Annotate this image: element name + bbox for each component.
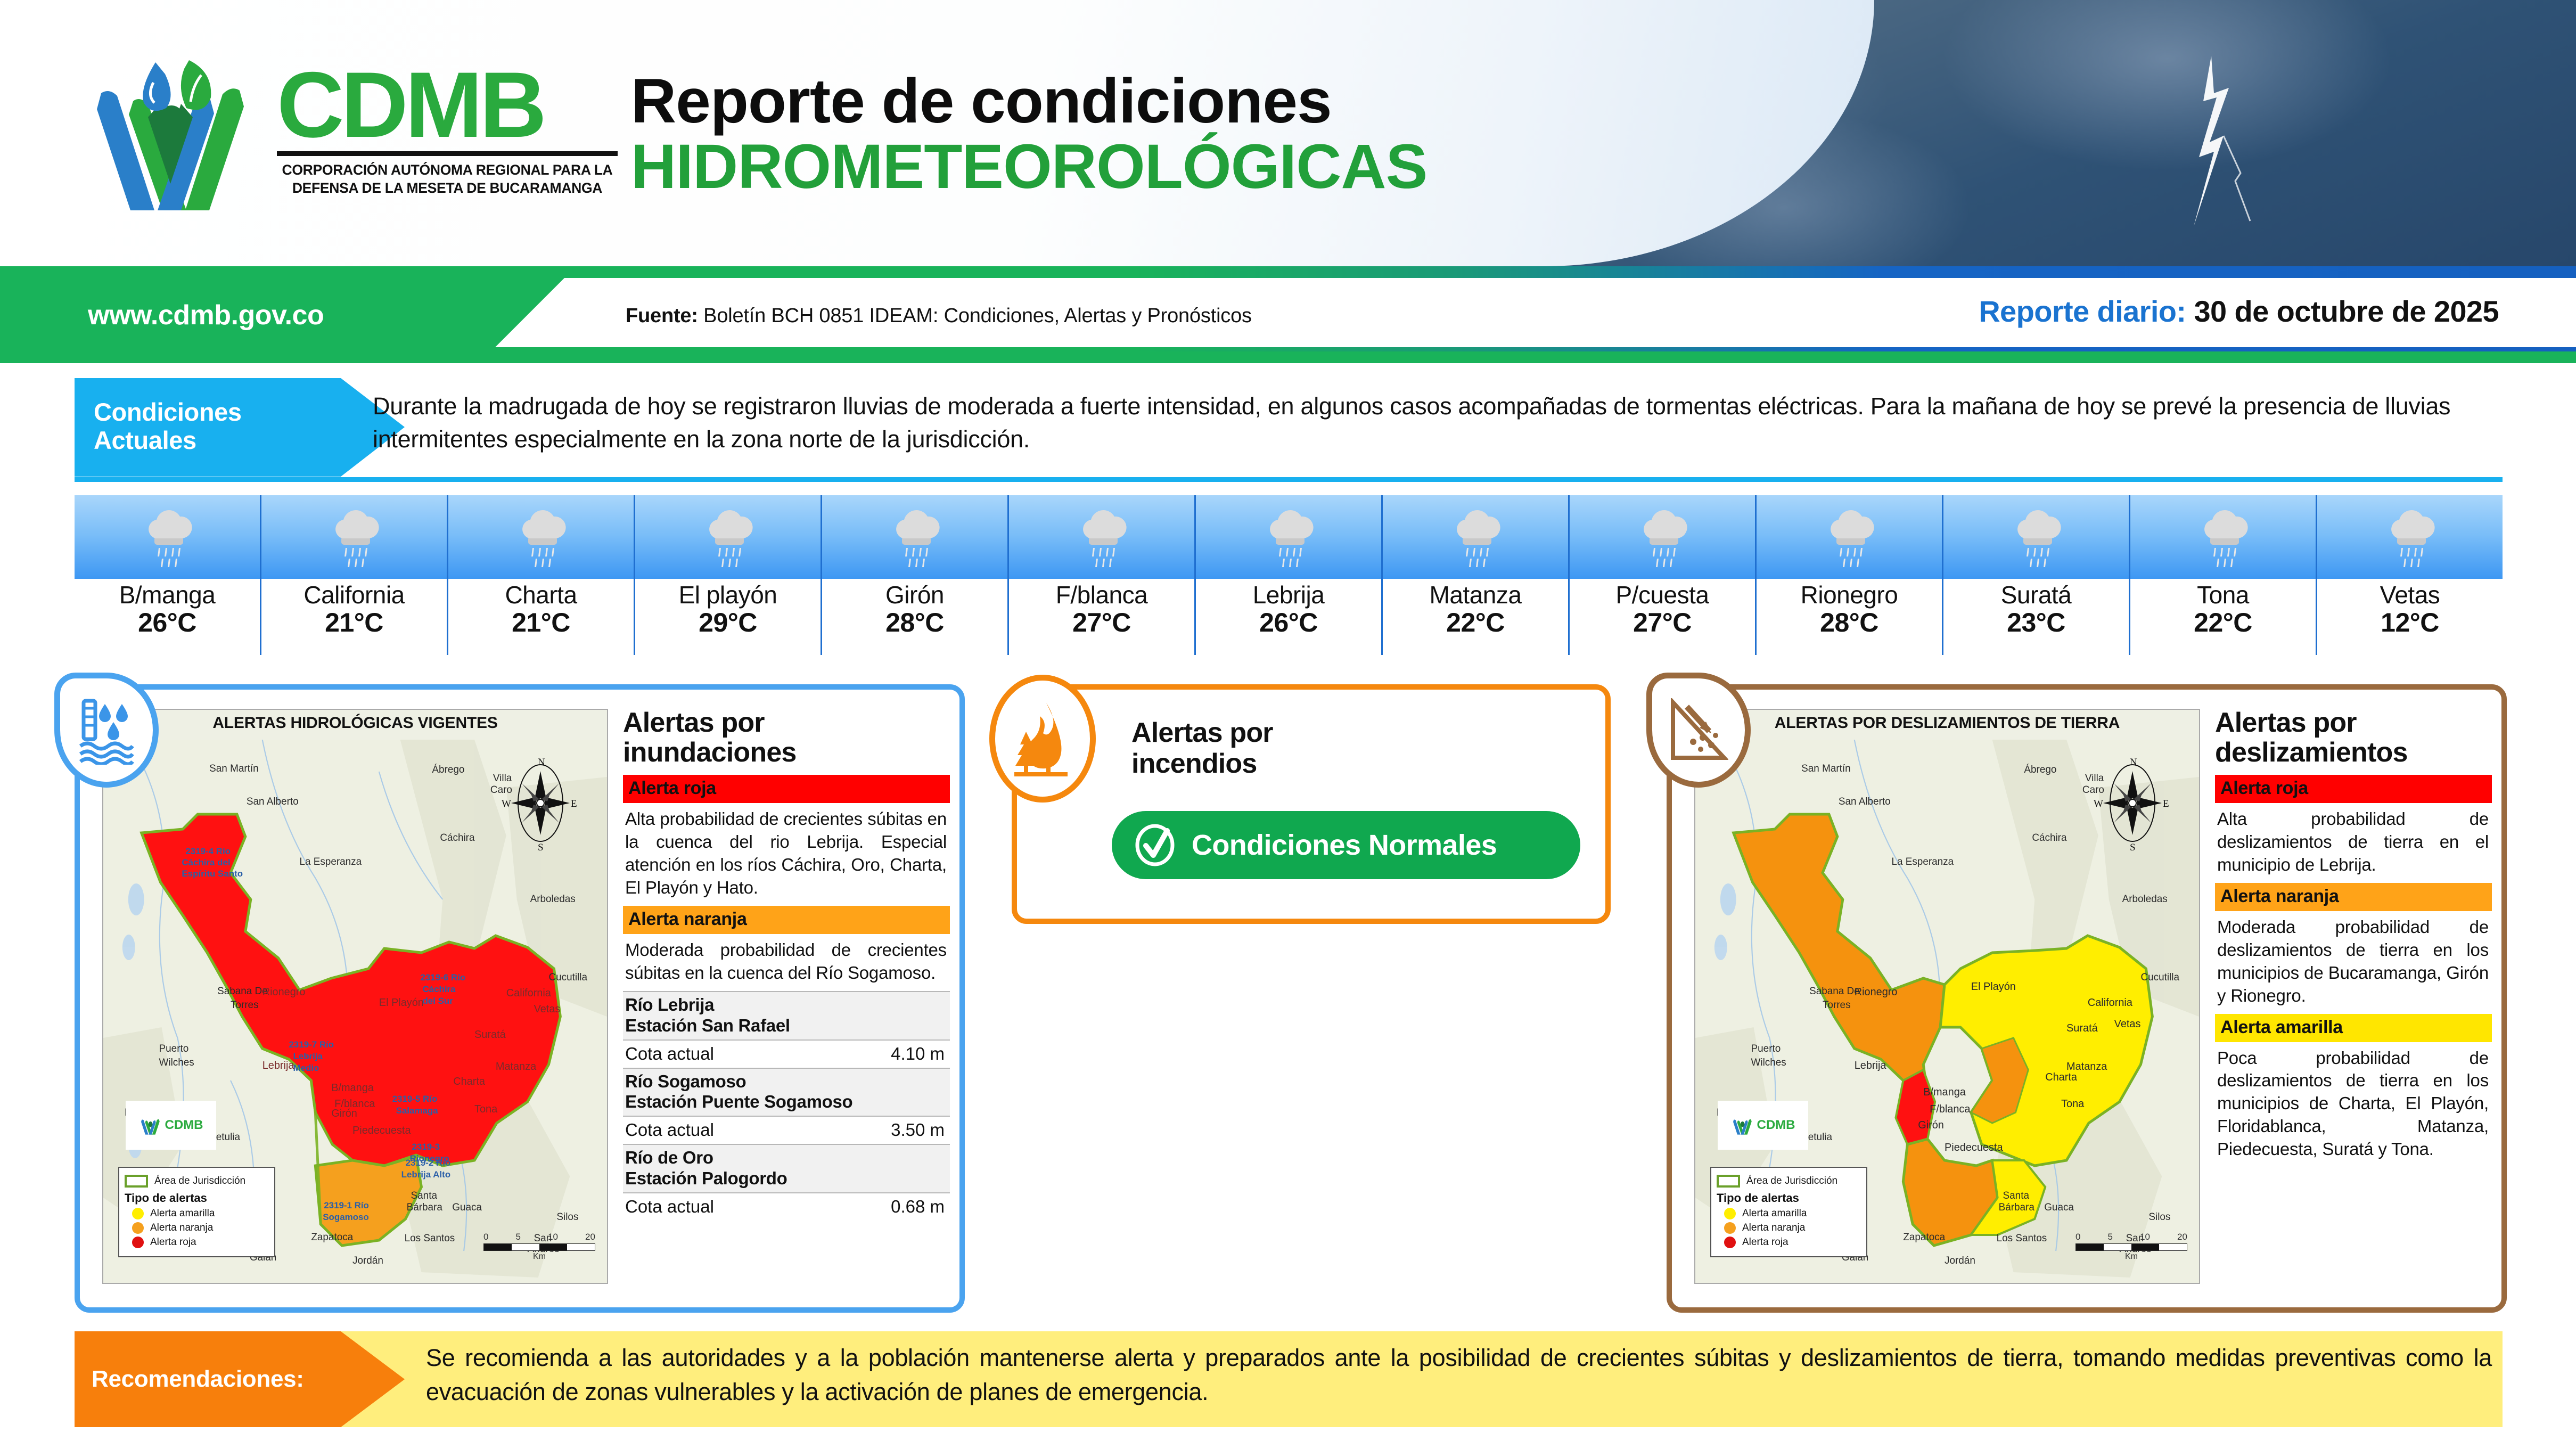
logo-subtitle-line2: DEFENSA DE LA MESETA DE BUCARAMANGA	[277, 179, 618, 198]
svg-text:Suratá: Suratá	[474, 1029, 506, 1041]
temperature-labels: B/manga26°C	[75, 579, 260, 655]
svg-text:Guaca: Guaca	[452, 1202, 482, 1213]
svg-text:Piedecuesta: Piedecuesta	[1945, 1142, 2003, 1153]
svg-text:W: W	[2094, 798, 2103, 809]
station-metric-value: 0.68 m	[891, 1197, 945, 1217]
svg-text:Bárbara: Bárbara	[1999, 1202, 2035, 1213]
alert-level-header: Alerta roja	[2215, 775, 2492, 803]
temperature-station-name: B/manga	[75, 582, 260, 608]
legend-color-dot	[1724, 1208, 1736, 1219]
temperature-station-name: Girón	[822, 582, 1007, 608]
flood-station-list: Río LebrijaEstación San RafaelCota actua…	[623, 991, 950, 1221]
station-measure-row: Cota actual3.50 m	[623, 1116, 950, 1144]
temperature-value: 26°C	[75, 608, 260, 637]
legend-item-label: Alerta naranja	[150, 1222, 213, 1234]
scale-tick: 0	[483, 1232, 488, 1242]
station-metric-label: Cota actual	[625, 1120, 714, 1140]
legend-item-label: Alerta roja	[150, 1237, 196, 1248]
river-name: Río Sogamoso	[625, 1071, 947, 1092]
website-url[interactable]: www.cdmb.gov.co	[88, 299, 324, 331]
svg-text:Medio: Medio	[293, 1063, 319, 1073]
svg-text:B/manga: B/manga	[331, 1082, 374, 1094]
svg-text:Salamaga: Salamaga	[396, 1106, 439, 1116]
temperature-station-name: P/cuesta	[1570, 582, 1755, 608]
river-station-name: Río SogamosoEstación Puente Sogamoso	[623, 1069, 950, 1116]
svg-text:Lebrija: Lebrija	[1855, 1060, 1887, 1071]
temperature-value: 22°C	[1383, 608, 1568, 637]
temperature-cell: B/manga26°C	[75, 495, 261, 655]
svg-text:Cáchira del: Cáchira del	[182, 857, 230, 867]
svg-text:Lebrija: Lebrija	[293, 1051, 323, 1061]
river-name: Río Lebrija	[625, 995, 947, 1016]
current-conditions-underline	[75, 477, 2503, 482]
scale-tick: 5	[516, 1232, 521, 1242]
source-label: Fuente:	[626, 305, 698, 327]
river-station-block: Río LebrijaEstación San RafaelCota actua…	[623, 991, 950, 1068]
flood-map-scale: 051020Km	[483, 1232, 595, 1262]
rain-cloud-icon	[2317, 495, 2503, 579]
temperature-station-name: Rionegro	[1757, 582, 1942, 608]
alert-description: Alta probabilidad de deslizamientos de t…	[2215, 803, 2492, 883]
temperature-cell: Charta21°C	[448, 495, 635, 655]
temperature-cell: P/cuesta27°C	[1570, 495, 1757, 655]
fire-alerts-title: Alertas por incendios	[1131, 717, 1273, 779]
legend-color-dot	[132, 1208, 144, 1219]
svg-text:Los Santos: Los Santos	[405, 1233, 455, 1244]
rain-cloud-icon	[1570, 495, 1755, 579]
cdmb-mini-logo-icon	[139, 1112, 162, 1139]
svg-text:Arboledas: Arboledas	[530, 894, 576, 905]
temperature-cell: Suratá23°C	[1943, 495, 2130, 655]
temperature-cell: California21°C	[261, 495, 448, 655]
temperature-cell: Rionegro28°C	[1757, 495, 1943, 655]
fire-alerts-title-line2: incendios	[1131, 748, 1273, 779]
report-date-line: Reporte diario: 30 de octubre de 2025	[1979, 294, 2499, 329]
page-title: Reporte de condiciones HIDROMETEOROLÓGIC…	[631, 69, 1427, 200]
temperature-value: 29°C	[635, 608, 821, 637]
temperature-labels: El playón29°C	[635, 579, 821, 655]
alert-panels-row: ALERTAS HIDROLÓGICAS VIGENTES	[75, 684, 2507, 1313]
landslide-alerts-title-line2: deslizamientos	[2215, 738, 2492, 767]
current-conditions-tag: Condiciones Actuales	[75, 378, 405, 477]
flood-alerts-card: ALERTAS HIDROLÓGICAS VIGENTES	[75, 684, 965, 1313]
compass-rose-icon: N S W E	[501, 752, 580, 854]
svg-text:Jordán: Jordán	[352, 1255, 383, 1266]
temperature-station-name: Matanza	[1383, 582, 1568, 608]
temperature-value: 28°C	[822, 608, 1007, 637]
temperature-labels: Suratá23°C	[1943, 579, 2129, 655]
station-name: Estación Palogordo	[625, 1168, 947, 1189]
landslide-map-title: ALERTAS POR DESLIZAMIENTOS DE TIERRA	[1695, 714, 2199, 732]
svg-text:2319-3: 2319-3	[412, 1142, 440, 1152]
svg-text:F/blanca: F/blanca	[334, 1098, 375, 1110]
svg-text:2319-1 Río: 2319-1 Río	[324, 1200, 369, 1210]
svg-text:Zapatoca: Zapatoca	[311, 1232, 353, 1243]
svg-text:Vetas: Vetas	[534, 1003, 561, 1015]
temperature-strip: B/manga26°CCalifornia21°CCharta21°CEl pl…	[75, 495, 2503, 655]
svg-text:Cáchira: Cáchira	[2032, 832, 2067, 844]
landslide-alert-list: Alerta rojaAlta probabilidad de deslizam…	[2215, 775, 2492, 1167]
legend-item: Alerta amarilla	[1717, 1208, 1861, 1219]
temperature-station-name: F/blanca	[1009, 582, 1194, 608]
svg-text:2319-7 Río: 2319-7 Río	[289, 1039, 334, 1050]
logo-subtitle-line1: CORPORACIÓN AUTÓNOMA REGIONAL PARA LA	[277, 161, 618, 179]
temperature-value: 21°C	[261, 608, 447, 637]
flood-alerts-title-line2: inundaciones	[623, 738, 950, 767]
scale-bar	[483, 1243, 595, 1251]
fire-badge	[989, 675, 1096, 803]
svg-text:Sabana De: Sabana De	[1809, 986, 1860, 997]
temperature-labels: Matanza22°C	[1383, 579, 1568, 655]
source-text: Boletín BCH 0851 IDEAM: Condiciones, Ale…	[703, 305, 1252, 327]
rain-cloud-icon	[1383, 495, 1568, 579]
fire-status-text: Condiciones Normales	[1192, 829, 1497, 862]
temperature-station-name: Vetas	[2317, 582, 2503, 608]
alert-level-header: Alerta roja	[623, 775, 950, 803]
legend-item-label: Alerta amarilla	[1742, 1208, 1807, 1219]
svg-text:Charta: Charta	[453, 1076, 486, 1087]
svg-text:F/blanca: F/blanca	[1930, 1103, 1971, 1115]
svg-text:2319-5 Río: 2319-5 Río	[392, 1094, 438, 1104]
svg-text:Arboledas: Arboledas	[2122, 894, 2168, 905]
rain-cloud-icon	[2130, 495, 2316, 579]
legend-jurisdiction-row: Área de Jurisdicción	[1717, 1175, 1861, 1188]
temperature-cell: Lebrija26°C	[1196, 495, 1383, 655]
flood-map-legend: Área de JurisdicciónTipo de alertasAlert…	[118, 1167, 275, 1257]
svg-text:S: S	[2130, 842, 2136, 853]
svg-text:B/manga: B/manga	[1923, 1086, 1966, 1098]
legend-jurisdiction-row: Área de Jurisdicción	[125, 1175, 269, 1188]
svg-text:Cucutilla: Cucutilla	[548, 972, 587, 983]
recommendations-section: Recomendaciones: Se recomienda a las aut…	[75, 1331, 2503, 1427]
scale-tick: 5	[2108, 1232, 2113, 1242]
svg-text:Rionegro: Rionegro	[410, 1153, 449, 1164]
temperature-station-name: El playón	[635, 582, 821, 608]
svg-text:Wilches: Wilches	[1751, 1057, 1786, 1068]
recommendations-tag: Recomendaciones:	[75, 1331, 405, 1427]
svg-text:Jordán: Jordán	[1945, 1255, 1975, 1266]
svg-text:Torres: Torres	[231, 1000, 259, 1011]
station-measure-row: Cota actual4.10 m	[623, 1039, 950, 1068]
river-station-name: Río de OroEstación Palogordo	[623, 1145, 950, 1192]
svg-text:W: W	[502, 798, 511, 809]
temperature-value: 21°C	[448, 608, 634, 637]
temperature-labels: Vetas12°C	[2317, 579, 2503, 655]
scale-tick: 10	[2140, 1232, 2150, 1242]
legend-item: Alerta roja	[1717, 1237, 1861, 1248]
cdmb-mini-logo-icon	[1731, 1112, 1754, 1139]
scale-tick-labels: 051020	[483, 1232, 595, 1242]
current-conditions-section: Condiciones Actuales Durante la madrugad…	[75, 378, 2503, 477]
svg-text:Silos: Silos	[2148, 1211, 2170, 1223]
temperature-station-name: Lebrija	[1196, 582, 1381, 608]
svg-text:El Playón: El Playón	[379, 997, 424, 1009]
rain-cloud-icon	[635, 495, 821, 579]
svg-text:Ábrego: Ábrego	[2024, 764, 2056, 775]
station-metric-value: 4.10 m	[891, 1044, 945, 1064]
svg-text:San Alberto: San Alberto	[1839, 796, 1891, 807]
svg-text:La Esperanza: La Esperanza	[1891, 856, 1954, 867]
check-circle-icon	[1132, 822, 1178, 868]
rain-cloud-icon	[822, 495, 1007, 579]
fire-status-pill: Condiciones Normales	[1112, 811, 1580, 879]
hydrological-alerts-map[interactable]: ALERTAS HIDROLÓGICAS VIGENTES	[102, 709, 608, 1284]
flood-alerts-title-line1: Alertas por	[623, 708, 950, 738]
temperature-labels: Tona22°C	[2130, 579, 2316, 655]
fire-forest-icon	[1011, 699, 1074, 779]
temperature-labels: Charta21°C	[448, 579, 634, 655]
flood-badge	[54, 673, 159, 788]
svg-text:California: California	[2088, 997, 2133, 1009]
svg-text:El Playón: El Playón	[1971, 981, 2016, 993]
svg-text:Rionegro: Rionegro	[1855, 986, 1898, 998]
flood-alert-list: Alerta rojaAlta probabilidad de crecient…	[623, 775, 950, 990]
jurisdiction-label: Área de Jurisdicción	[154, 1175, 245, 1187]
scale-unit: Km	[483, 1252, 595, 1262]
legend-item: Alerta naranja	[1717, 1222, 1861, 1234]
temperature-cell: Vetas12°C	[2317, 495, 2503, 655]
legend-item-label: Alerta naranja	[1742, 1222, 1805, 1234]
svg-text:Espíritu Santo: Espíritu Santo	[182, 869, 243, 879]
rain-cloud-icon	[261, 495, 447, 579]
temperature-station-name: Suratá	[1943, 582, 2129, 608]
landslide-icon	[1669, 698, 1728, 762]
landslide-map-legend: Área de JurisdicciónTipo de alertasAlert…	[1710, 1167, 1867, 1257]
flood-map-title: ALERTAS HIDROLÓGICAS VIGENTES	[103, 714, 607, 732]
temperature-labels: Rionegro28°C	[1757, 579, 1942, 655]
svg-text:Torres: Torres	[1823, 1000, 1851, 1011]
svg-text:Tona: Tona	[474, 1103, 498, 1115]
svg-text:Bárbara: Bárbara	[407, 1202, 443, 1213]
info-bar-bottom-rule	[0, 351, 2576, 363]
temperature-labels: F/blanca27°C	[1009, 579, 1194, 655]
alert-description: Moderada probabilidad de deslizamientos …	[2215, 911, 2492, 1014]
river-station-name: Río LebrijaEstación San Rafael	[623, 992, 950, 1039]
jurisdiction-swatch	[1717, 1175, 1740, 1188]
landslide-map-scale: 051020Km	[2075, 1232, 2187, 1262]
station-metric-value: 3.50 m	[891, 1120, 945, 1140]
svg-text:Matanza: Matanza	[2066, 1061, 2107, 1073]
legend-color-dot	[132, 1237, 144, 1248]
temperature-value: 22°C	[2130, 608, 2316, 637]
cdmb-logo: CDMB CORPORACIÓN AUTÓNOMA REGIONAL PARA …	[80, 51, 623, 226]
legend-color-dot	[132, 1222, 144, 1234]
temperature-cell: El playón29°C	[635, 495, 822, 655]
legend-types-title: Tipo de alertas	[1717, 1191, 1861, 1205]
svg-text:Zapatoca: Zapatoca	[1903, 1232, 1945, 1243]
flood-alerts-title: Alertas por inundaciones	[623, 708, 950, 767]
svg-text:Girón: Girón	[1918, 1119, 1944, 1131]
svg-text:Sogamoso: Sogamoso	[323, 1212, 368, 1222]
jurisdiction-swatch	[125, 1175, 148, 1188]
temperature-value: 23°C	[1943, 608, 2129, 637]
station-measure-row: Cota actual0.68 m	[623, 1192, 950, 1221]
rain-cloud-icon	[1009, 495, 1194, 579]
svg-text:La Esperanza: La Esperanza	[299, 856, 362, 867]
scale-tick: 10	[548, 1232, 558, 1242]
temperature-cell: Matanza22°C	[1383, 495, 1570, 655]
scale-bar	[2075, 1243, 2187, 1251]
station-metric-label: Cota actual	[625, 1197, 714, 1217]
source-line: Fuente: Boletín BCH 0851 IDEAM: Condicio…	[626, 305, 1252, 328]
svg-text:San Martín: San Martín	[1801, 763, 1851, 774]
rain-cloud-icon	[1943, 495, 2129, 579]
river-station-block: Río SogamosoEstación Puente SogamosoCota…	[623, 1068, 950, 1144]
legend-types-title: Tipo de alertas	[125, 1191, 269, 1205]
svg-text:Wilches: Wilches	[159, 1057, 194, 1068]
temperature-labels: California21°C	[261, 579, 447, 655]
scale-tick: 0	[2075, 1232, 2080, 1242]
svg-text:E: E	[2163, 798, 2169, 809]
temperature-labels: Lebrija26°C	[1196, 579, 1381, 655]
station-name: Estación San Rafael	[625, 1016, 947, 1036]
report-label: Reporte diario:	[1979, 294, 2186, 328]
title-line-2: HIDROMETEOROLÓGICAS	[631, 134, 1427, 200]
svg-text:Cáchira: Cáchira	[440, 832, 475, 844]
landslide-alerts-title-line1: Alertas por	[2215, 708, 2492, 738]
legend-item-label: Alerta amarilla	[150, 1208, 215, 1219]
map-cdmb-watermark: CDMB	[1718, 1101, 1808, 1150]
svg-text:2319-4 Río: 2319-4 Río	[185, 846, 231, 856]
svg-text:Los Santos: Los Santos	[1997, 1233, 2047, 1244]
alert-description: Moderada probabilidad de crecientes súbi…	[623, 934, 950, 991]
temperature-station-name: Tona	[2130, 582, 2316, 608]
landslide-alerts-title: Alertas por deslizamientos	[2215, 708, 2492, 767]
water-level-gauge-icon	[77, 695, 136, 765]
recommendations-text: Se recomienda a las autoridades y a la p…	[426, 1331, 2492, 1427]
svg-text:Ábrego: Ábrego	[432, 764, 464, 775]
landslide-alerts-card: ALERTAS POR DESLIZAMIENTOS DE TIERRA	[1667, 684, 2507, 1313]
svg-text:N: N	[2130, 757, 2137, 768]
temperature-labels: Girón28°C	[822, 579, 1007, 655]
temperature-labels: P/cuesta27°C	[1570, 579, 1755, 655]
landslide-alerts-map[interactable]: ALERTAS POR DESLIZAMIENTOS DE TIERRA	[1694, 709, 2200, 1284]
svg-text:Matanza: Matanza	[496, 1061, 537, 1073]
svg-text:Charta: Charta	[2045, 1071, 2078, 1083]
svg-text:Santa: Santa	[411, 1190, 438, 1201]
svg-text:Sabana De: Sabana De	[217, 986, 268, 997]
scale-tick: 20	[2177, 1232, 2187, 1242]
scale-tick: 20	[585, 1232, 595, 1242]
legend-color-dot	[1724, 1237, 1736, 1248]
temperature-value: 27°C	[1570, 608, 1755, 637]
legend-item: Alerta roja	[125, 1237, 269, 1248]
alert-description: Poca probabilidad de deslizamientos de t…	[2215, 1042, 2492, 1167]
station-metric-label: Cota actual	[625, 1044, 714, 1064]
svg-text:Santa: Santa	[2003, 1190, 2030, 1201]
rain-cloud-icon	[1196, 495, 1381, 579]
svg-text:Piedecuesta: Piedecuesta	[352, 1125, 411, 1136]
svg-text:Rionegro: Rionegro	[262, 986, 306, 998]
svg-text:San Martín: San Martín	[209, 763, 259, 774]
scale-unit: Km	[2075, 1252, 2187, 1262]
legend-item: Alerta naranja	[125, 1222, 269, 1234]
compass-rose-icon: N S W E	[2093, 752, 2172, 854]
jurisdiction-label: Área de Jurisdicción	[1746, 1175, 1837, 1187]
current-conditions-tag-line2: Actuales	[94, 427, 405, 455]
svg-text:Vetas: Vetas	[2114, 1018, 2141, 1030]
temperature-value: 27°C	[1009, 608, 1194, 637]
svg-text:California: California	[506, 987, 552, 999]
alert-description: Alta probabilidad de crecientes súbitas …	[623, 803, 950, 906]
current-conditions-tag-line1: Condiciones	[94, 398, 405, 427]
temperature-station-name: Charta	[448, 582, 634, 608]
alert-level-header: Alerta amarilla	[2215, 1014, 2492, 1042]
legend-item-label: Alerta roja	[1742, 1237, 1789, 1248]
svg-text:2319-6 Río: 2319-6 Río	[420, 972, 465, 983]
legend-item: Alerta amarilla	[125, 1208, 269, 1219]
svg-text:Cucutilla: Cucutilla	[2140, 972, 2179, 983]
svg-text:S: S	[538, 842, 544, 853]
report-date: 30 de octubre de 2025	[2194, 294, 2499, 328]
temperature-value: 28°C	[1757, 608, 1942, 637]
fire-alerts-title-line1: Alertas por	[1131, 717, 1273, 748]
logo-acronym: CDMB	[277, 62, 618, 148]
svg-text:Suratá: Suratá	[2066, 1022, 2098, 1034]
temperature-cell: F/blanca27°C	[1009, 495, 1196, 655]
svg-text:E: E	[571, 798, 577, 809]
temperature-cell: Tona22°C	[2130, 495, 2317, 655]
river-name: Río de Oro	[625, 1148, 947, 1168]
svg-text:N: N	[538, 757, 545, 768]
map-cdmb-watermark: CDMB	[126, 1101, 216, 1150]
temperature-value: 12°C	[2317, 608, 2503, 637]
legend-color-dot	[1724, 1222, 1736, 1234]
cdmb-logo-mark-icon	[80, 51, 266, 221]
svg-text:Tona: Tona	[2061, 1098, 2085, 1110]
alert-level-header: Alerta naranja	[623, 906, 950, 934]
rain-cloud-icon	[75, 495, 260, 579]
svg-text:Guaca: Guaca	[2044, 1202, 2074, 1213]
svg-text:Lebrija: Lebrija	[262, 1060, 295, 1071]
svg-text:del Sur: del Sur	[422, 996, 453, 1006]
svg-text:Puerto: Puerto	[1751, 1043, 1781, 1054]
fire-alerts-card: Alertas por incendios Condiciones Normal…	[1012, 684, 1611, 924]
landslide-badge	[1646, 673, 1751, 788]
lightning-icon	[2161, 51, 2267, 264]
svg-text:Silos: Silos	[556, 1211, 578, 1223]
rain-cloud-icon	[1757, 495, 1942, 579]
scale-tick-labels: 051020	[2075, 1232, 2187, 1242]
svg-text:Puerto: Puerto	[159, 1043, 189, 1054]
landslide-alerts-column: Alertas por deslizamientos Alerta rojaAl…	[2215, 708, 2492, 1167]
alert-level-header: Alerta naranja	[2215, 883, 2492, 911]
station-name: Estación Puente Sogamoso	[625, 1092, 947, 1112]
svg-text:San Alberto: San Alberto	[247, 796, 299, 807]
current-conditions-text: Durante la madrugada de hoy se registrar…	[373, 378, 2503, 477]
temperature-station-name: California	[261, 582, 447, 608]
page-header: CDMB CORPORACIÓN AUTÓNOMA REGIONAL PARA …	[0, 0, 2576, 266]
temperature-cell: Girón28°C	[822, 495, 1009, 655]
temperature-value: 26°C	[1196, 608, 1381, 637]
title-line-1: Reporte de condiciones	[631, 69, 1427, 134]
rain-cloud-icon	[448, 495, 634, 579]
flood-alerts-column: Alertas por inundaciones Alerta rojaAlta…	[623, 708, 950, 1221]
svg-text:Cáchira: Cáchira	[422, 984, 456, 994]
river-station-block: Río de OroEstación PalogordoCota actual0…	[623, 1144, 950, 1221]
svg-text:Lebrija Alto: Lebrija Alto	[401, 1169, 450, 1180]
